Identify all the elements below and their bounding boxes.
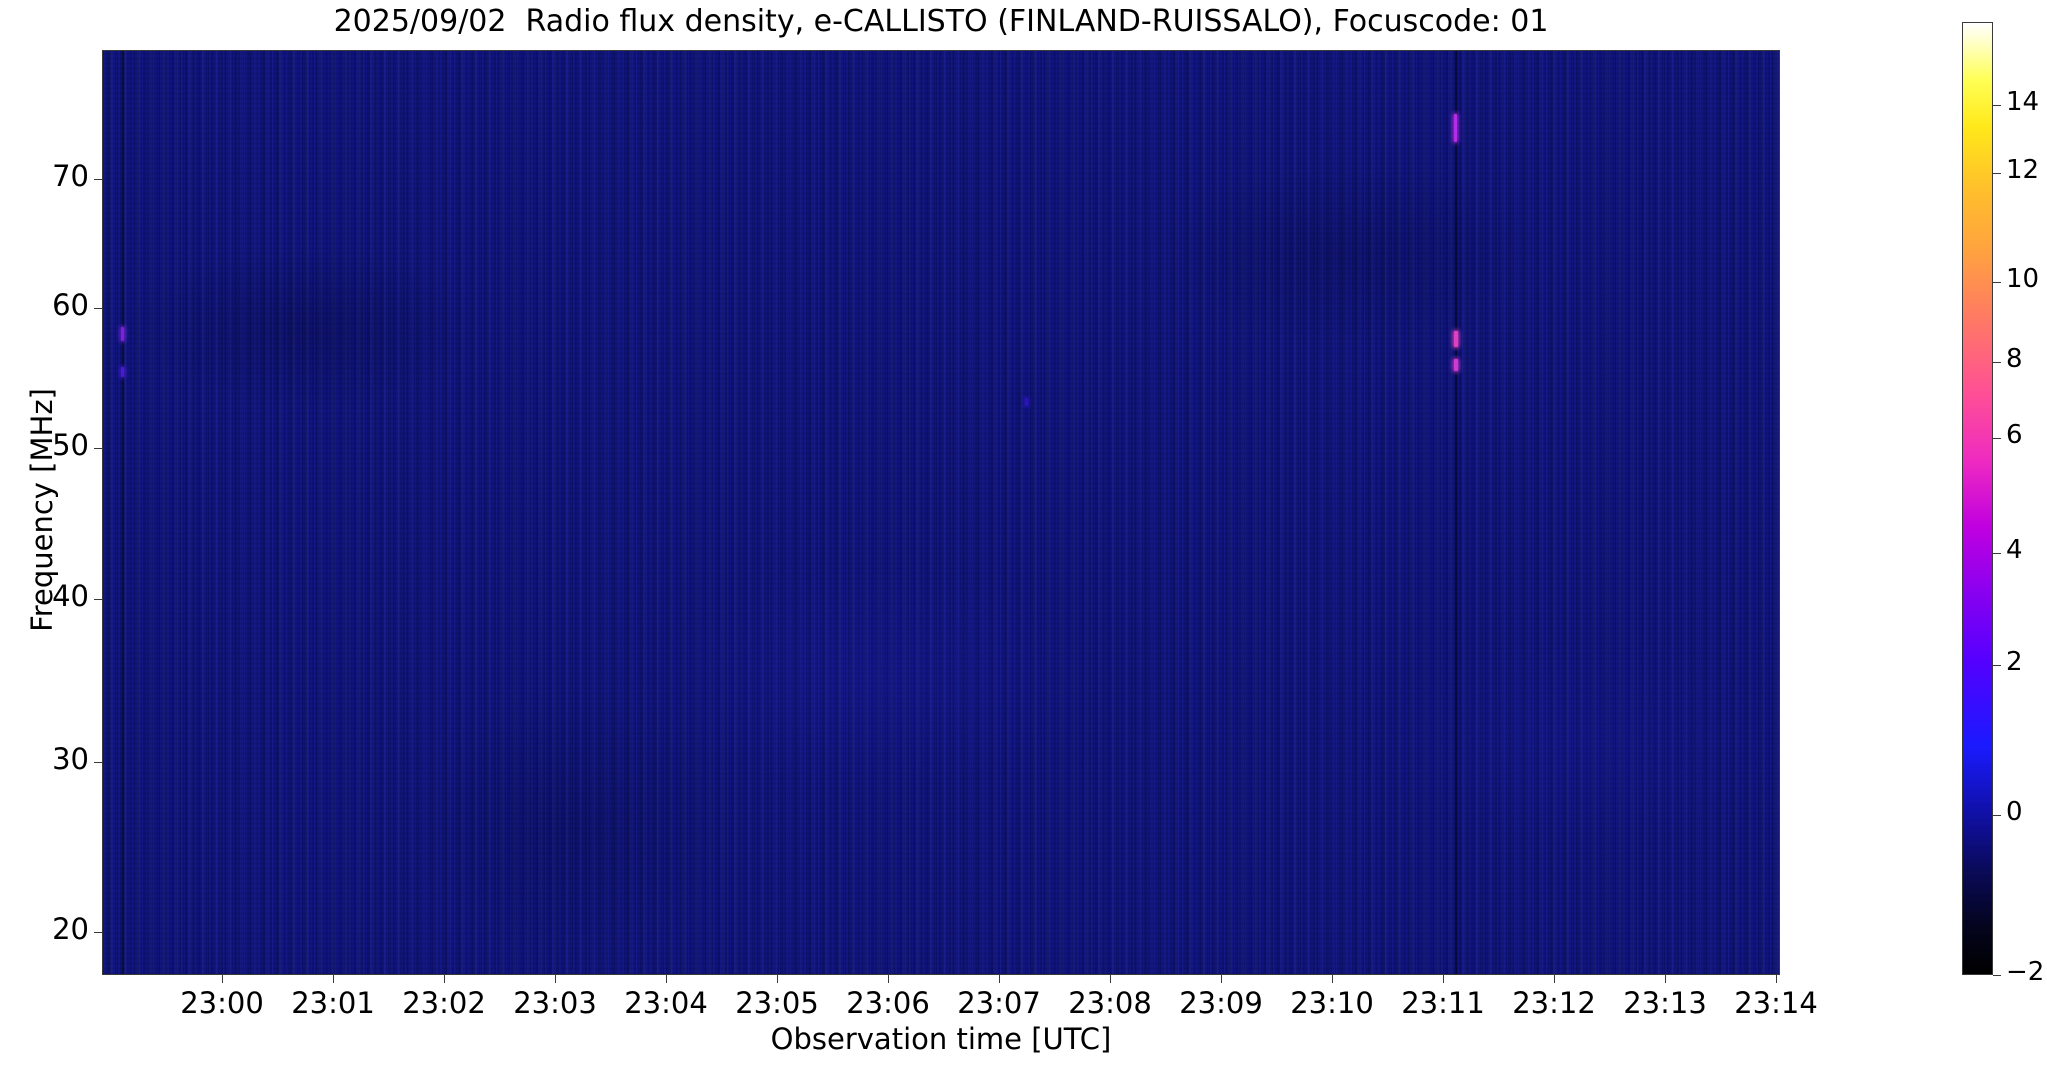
y-tick-label: 70 <box>52 159 89 193</box>
x-tick-label: 23:00 <box>180 986 264 1020</box>
colorbar-tick-label: 10 <box>2006 264 2039 294</box>
x-tick-label: 23:05 <box>735 986 819 1020</box>
burst-55mhz-2309 <box>1025 398 1028 406</box>
x-tick-label: 23:02 <box>402 986 486 1020</box>
x-tick-mark <box>1221 975 1222 983</box>
colorbar-tick-mark <box>1993 173 2001 174</box>
x-tick-mark <box>1332 975 1333 983</box>
x-tick-mark <box>666 975 667 983</box>
colorbar <box>1962 22 1993 975</box>
y-tick-mark <box>94 308 102 309</box>
x-tick-label: 23:03 <box>513 986 597 1020</box>
x-tick-mark <box>888 975 889 983</box>
y-tick-label: 20 <box>52 912 89 946</box>
colorbar-tick-mark <box>1993 105 2001 106</box>
colorbar-tick-label: −2 <box>2006 957 2044 987</box>
x-tick-label: 23:08 <box>1068 986 1152 1020</box>
colorbar-tick-mark <box>1993 553 2001 554</box>
x-tick-mark <box>1110 975 1111 983</box>
x-tick-label: 23:11 <box>1401 986 1485 1020</box>
x-tick-label: 23:14 <box>1734 986 1818 1020</box>
colorbar-tick-mark <box>1993 438 2001 439</box>
x-tick-label: 23:09 <box>1179 986 1263 1020</box>
burst-59mhz-2312 <box>1454 331 1458 347</box>
y-tick-mark <box>94 448 102 449</box>
colorbar-tick-label: 0 <box>2006 797 2023 827</box>
colorbar-gradient <box>1963 23 1992 974</box>
colorbar-tick-mark <box>1993 975 2001 976</box>
x-tick-label: 23:10 <box>1290 986 1374 1020</box>
noise-texture-horizontal <box>103 51 1779 974</box>
x-tick-label: 23:07 <box>957 986 1041 1020</box>
page-title: 2025/09/02 Radio flux density, e-CALLIST… <box>102 2 1780 42</box>
y-tick-mark <box>94 599 102 600</box>
burst-59mhz-2300 <box>121 327 124 341</box>
x-tick-label: 23:01 <box>291 986 375 1020</box>
x-tick-mark <box>777 975 778 983</box>
burst-58mhz-2312 <box>1454 359 1458 371</box>
noise-texture-vertical-a <box>103 51 1779 974</box>
colorbar-tick-label: 4 <box>2006 535 2023 565</box>
colorbar-tick-label: 6 <box>2006 420 2023 450</box>
x-tick-mark <box>1665 975 1666 983</box>
colorbar-tick-label: 14 <box>2006 87 2039 117</box>
burst-57mhz-2300 <box>121 367 124 377</box>
x-tick-mark <box>333 975 334 983</box>
colorbar-tick-label: 2 <box>2006 647 2023 677</box>
x-tick-mark <box>222 975 223 983</box>
x-tick-mark <box>1776 975 1777 983</box>
colorbar-tick-mark <box>1993 282 2001 283</box>
y-tick-mark <box>94 179 102 180</box>
y-tick-mark <box>94 762 102 763</box>
colorbar-tick-mark <box>1993 665 2001 666</box>
x-tick-mark <box>1443 975 1444 983</box>
y-tick-mark <box>94 932 102 933</box>
x-tick-label: 23:06 <box>846 986 930 1020</box>
spectrogram-image <box>103 51 1779 974</box>
noise-texture-vertical-b <box>103 51 1779 974</box>
x-tick-label: 23:04 <box>624 986 708 1020</box>
x-axis-label: Observation time [UTC] <box>102 1022 1780 1056</box>
rfi-streak-2300 <box>122 51 124 974</box>
noise-texture-blotch <box>103 51 1779 974</box>
colorbar-tick-label: 8 <box>2006 344 2023 374</box>
burst-73mhz-2312 <box>1454 114 1457 142</box>
x-tick-mark <box>555 975 556 983</box>
y-axis-label: Frequency [MHz] <box>25 230 59 790</box>
x-tick-label: 23:12 <box>1512 986 1596 1020</box>
rfi-streak-2312 <box>1455 51 1457 974</box>
x-tick-mark <box>999 975 1000 983</box>
colorbar-tick-label: 12 <box>2006 155 2039 185</box>
colorbar-tick-mark <box>1993 815 2001 816</box>
colorbar-tick-mark <box>1993 362 2001 363</box>
x-tick-label: 23:13 <box>1623 986 1707 1020</box>
x-tick-mark <box>444 975 445 983</box>
spectrogram-plot <box>102 50 1780 975</box>
x-tick-mark <box>1554 975 1555 983</box>
